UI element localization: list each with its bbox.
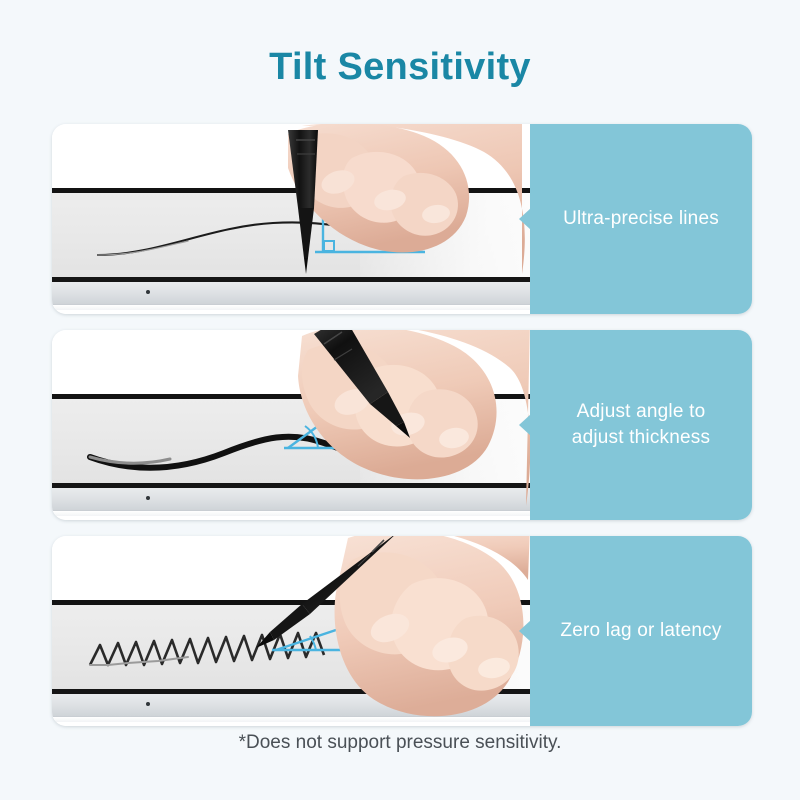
product-photo-60: 60° bbox=[52, 330, 530, 520]
caption-notch bbox=[519, 208, 531, 230]
caption-panel-zero-lag: Zero lag or latency bbox=[530, 536, 752, 726]
caption-panel-ultra-precise: Ultra-precise lines bbox=[530, 124, 752, 314]
hand-with-stylus-90 bbox=[52, 124, 530, 314]
caption-text-zero-lag: Zero lag or latency bbox=[560, 618, 721, 644]
caption-notch bbox=[519, 620, 531, 642]
hand-with-stylus-30 bbox=[52, 536, 530, 726]
feature-card-zero-lag: 30° bbox=[52, 536, 752, 726]
caption-line-1: Adjust angle to bbox=[577, 401, 706, 422]
caption-text-ultra-precise: Ultra-precise lines bbox=[563, 206, 719, 232]
caption-text-adjust-angle: Adjust angle to adjust thickness bbox=[572, 399, 710, 450]
caption-line-2: adjust thickness bbox=[572, 427, 710, 448]
infographic-page: Tilt Sensitivity bbox=[0, 0, 800, 800]
feature-card-ultra-precise: 90° bbox=[52, 124, 752, 314]
product-photo-30: 30° bbox=[52, 536, 530, 726]
hand-with-stylus-60 bbox=[52, 330, 530, 520]
footnote-text: *Does not support pressure sensitivity. bbox=[0, 732, 800, 754]
caption-notch bbox=[519, 414, 531, 436]
caption-panel-adjust-angle: Adjust angle to adjust thickness bbox=[530, 330, 752, 520]
product-photo-90: 90° bbox=[52, 124, 530, 314]
feature-card-adjust-angle: 60° bbox=[52, 330, 752, 520]
page-title: Tilt Sensitivity bbox=[0, 46, 800, 89]
